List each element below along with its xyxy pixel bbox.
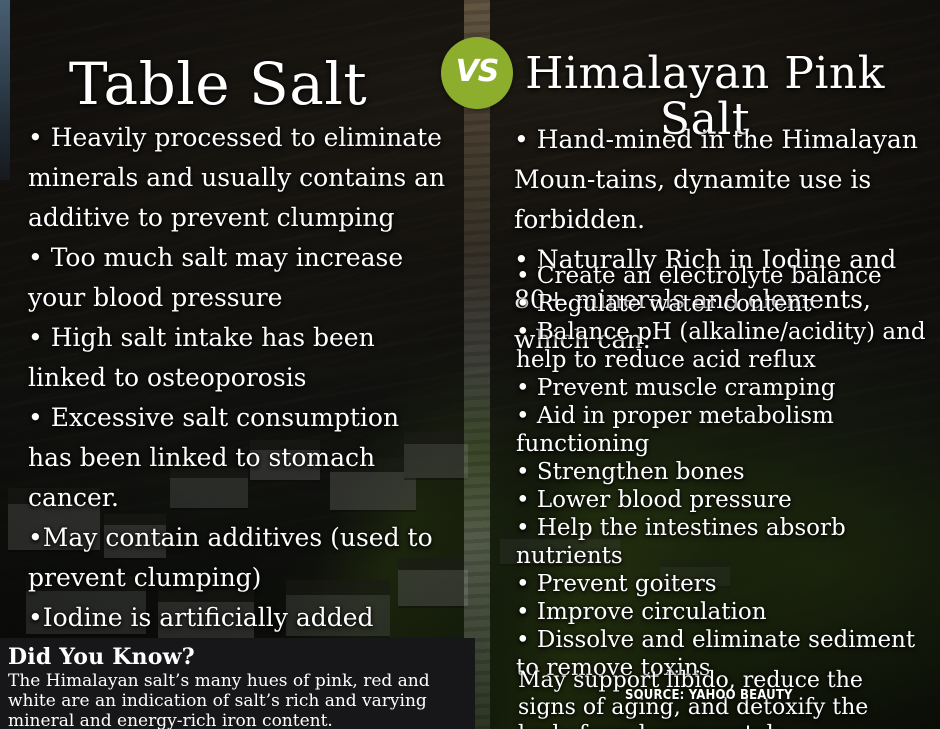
- versus-label: VS: [456, 57, 499, 87]
- did-you-know-heading: Did You Know?: [8, 644, 465, 670]
- list-item: • Prevent muscle cramping: [516, 374, 928, 402]
- table-salt-bullet-list: • Heavily processed to eliminate mineral…: [28, 118, 448, 718]
- list-item: • Improve circulation: [516, 598, 928, 626]
- column-table-salt: Table Salt • Heavily processed to elimin…: [0, 0, 470, 729]
- list-item: • Lower blood pressure: [516, 486, 928, 514]
- list-item: • High salt intake has been linked to os…: [28, 318, 448, 398]
- list-item: • Excessive salt consumption has been li…: [28, 398, 448, 518]
- page-title-table-salt: Table Salt: [0, 53, 470, 115]
- versus-badge: VS: [441, 37, 513, 109]
- content-layer: Table Salt • Heavily processed to elimin…: [0, 0, 940, 729]
- list-item: • Balance pH (alkaline/acidity) and help…: [516, 318, 928, 374]
- list-item: •Iodine is artificially added: [28, 598, 448, 638]
- list-item: •May contain additives (used to prevent …: [28, 518, 448, 598]
- list-item: • Aid in proper metabolism functioning: [516, 402, 928, 458]
- list-item: • Too much salt may increase your blood …: [28, 238, 448, 318]
- list-item: • Heavily processed to eliminate mineral…: [28, 118, 448, 238]
- list-item: • Hand-mined in the Himalayan Moun-tains…: [514, 120, 922, 240]
- infographic-root: Table Salt • Heavily processed to elimin…: [0, 0, 940, 729]
- did-you-know-panel: Did You Know? The Himalayan salt’s many …: [0, 638, 475, 729]
- list-item: • Prevent goiters: [516, 570, 928, 598]
- did-you-know-body: The Himalayan salt’s many hues of pink, …: [8, 671, 465, 729]
- pink-salt-benefits-bullet-list: • Create an electrolyte balance • Regula…: [516, 262, 928, 682]
- list-item: • Strengthen bones: [516, 458, 928, 486]
- list-item: • Regulate water content: [516, 290, 928, 318]
- list-item: • Create an electrolyte balance: [516, 262, 928, 290]
- list-item: • Help the intestines absorb nutrients: [516, 514, 928, 570]
- source-credit: SOURCE: YAHOO BEAUTY: [625, 689, 793, 703]
